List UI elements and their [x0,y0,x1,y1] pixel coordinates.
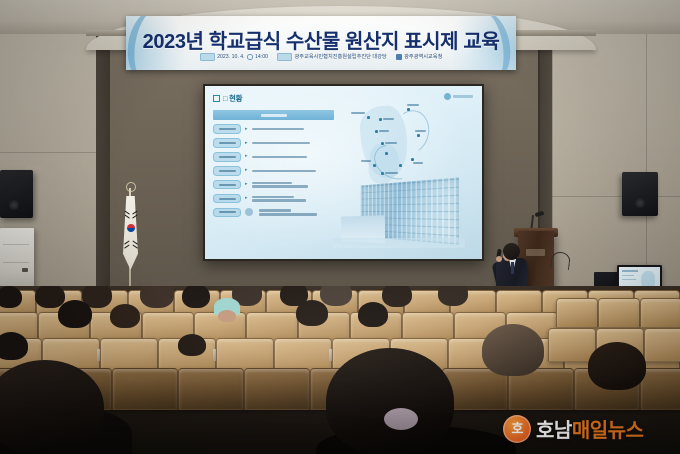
presentation-slide: □ 현황 ▸ ▸ [205,86,482,259]
timeline-text [259,209,317,215]
presenter-tie [511,262,514,274]
seat [640,368,680,410]
watermark: 호 호남매일뉴스 [503,414,643,443]
building-ground [333,238,465,248]
timeline-text [252,156,307,158]
arrow-icon: ▸ [245,182,248,187]
timeline-date [213,194,241,204]
timeline-text [252,142,310,144]
seat [112,368,178,410]
watermark-text-part2: 매일뉴스 [572,420,644,442]
banner-date: 2023. 10. 4. [217,54,244,60]
speaker-cone-icon [9,200,19,210]
attendee-head [588,342,646,390]
banner-organizer: 광주광역시교육청 [404,53,442,60]
arrow-icon: ▸ [245,154,248,159]
presenter-head [503,243,520,260]
news-logo-icon: 호 [503,415,531,443]
watermark-text-part1: 호남 [536,420,572,442]
org-logo-icon [444,93,451,100]
attendee-head [296,300,328,326]
timeline-date [213,124,241,134]
map-pin-icon [385,152,388,155]
bullet-square-icon [213,95,220,102]
timeline-text [252,196,306,202]
map-pin-icon [379,118,382,121]
projection-screen-frame: □ 현황 ▸ ▸ [203,84,484,261]
cabinet-handle [22,268,28,272]
banner-organizer-group: 광주광역시교육청 [396,53,443,60]
map-pin-label [379,130,389,132]
seat-row [556,298,680,328]
monitor-line [622,279,636,281]
map-pin-icon [367,116,370,119]
flag-finial [126,182,136,192]
seat [644,328,680,362]
hair-scrunchie [384,408,418,430]
map-pin-icon [381,142,384,145]
seat [640,298,680,328]
cabinet-seam [3,262,29,263]
map-pin-label [407,104,419,106]
map-pin-label [351,112,365,114]
wall-seam [646,0,647,300]
education-office-emblem-icon [396,54,402,60]
seat [244,368,310,410]
attendee-head [140,286,174,308]
label-chip-icon [277,53,292,61]
seat [178,368,244,410]
timeline-date [213,138,241,148]
attendee-head [58,300,92,328]
banner-datetime: 2023. 10. 4. 14:00 [200,53,268,61]
attendee-head [326,348,454,454]
event-banner: 2023년 학교급식 수산물 원산지 표시제 교육 2023. 10. 4. 1… [126,16,516,70]
equipment-cabinet [0,228,34,290]
attendee-head [0,332,28,360]
attendee-head [358,302,388,327]
timeline-text [252,182,308,188]
attendee-head [0,286,22,308]
banner-venue-group: 광주교육시민협치진흥원설립추진단 대강당 [277,53,387,61]
timeline-text [252,128,304,130]
timeline-date [213,180,241,190]
arrow-icon: ▸ [245,168,248,173]
seat [556,298,598,328]
podium-nameplate [526,249,545,256]
slide-title: □ 현황 [223,93,242,104]
photo-scene: 2023년 학교급식 수산물 원산지 표시제 교육 2023. 10. 4. 1… [0,0,680,454]
org-logo-text [453,95,473,98]
banner-subtitle: 2023. 10. 4. 14:00 광주교육시민협치진흥원설립추진단 대강당 … [126,53,516,61]
map-pin-label [413,162,423,164]
map-pin-icon [373,164,376,167]
attendee-head [438,286,468,306]
monitor-line [622,275,634,277]
watermark-text: 호남매일뉴스 [536,414,643,443]
presenter-hand [496,256,502,262]
map-pin-icon [399,164,402,167]
attendee-head [482,324,544,376]
projection-screen: □ 현황 ▸ ▸ [205,86,482,259]
building-photo [333,172,465,252]
clock-icon [247,54,253,60]
map-pin-icon [375,130,378,133]
attendee-face [218,310,236,322]
timeline-header [213,110,334,120]
news-logo-char: 호 [512,422,523,435]
banner-title: 2023년 학교급식 수산물 원산지 표시제 교육 [126,25,516,54]
arrow-icon: ▸ [245,196,248,201]
map-pin-label [361,160,371,162]
timeline-date [213,166,241,176]
map-pin-icon [417,134,420,137]
banner-time: 14:00 [255,54,268,60]
label-chip-icon [200,53,215,61]
banner-venue: 광주교육시민협치진흥원설립추진단 대강당 [295,53,387,60]
attendee-head [178,334,206,356]
cabinet-seam [3,244,29,245]
right-wall-speaker [622,172,658,216]
timeline-text [252,170,316,172]
agency-emblem-icon [245,208,253,216]
map-pin-label [383,118,394,120]
wall-seam [0,152,96,153]
attendee-head [320,286,352,306]
arrow-icon: ▸ [245,127,248,132]
arrow-icon: ▸ [245,141,248,146]
seat [598,298,640,328]
slide-org-logo [444,93,473,100]
wall-seam [552,196,680,197]
map-pin-icon [411,158,414,161]
map-pin-icon [407,108,410,111]
left-wall-speaker [0,170,33,218]
attendee-head [382,286,412,307]
map-pin-label [385,142,397,144]
attendee-head [182,286,210,308]
timeline-date [213,208,241,218]
taeguk-symbol-icon [127,224,135,232]
speaker-cone-icon [635,198,645,208]
map-pin-label [415,130,426,132]
timeline-date [213,152,241,162]
monitor-line [622,270,638,272]
attendee-head [110,304,140,328]
